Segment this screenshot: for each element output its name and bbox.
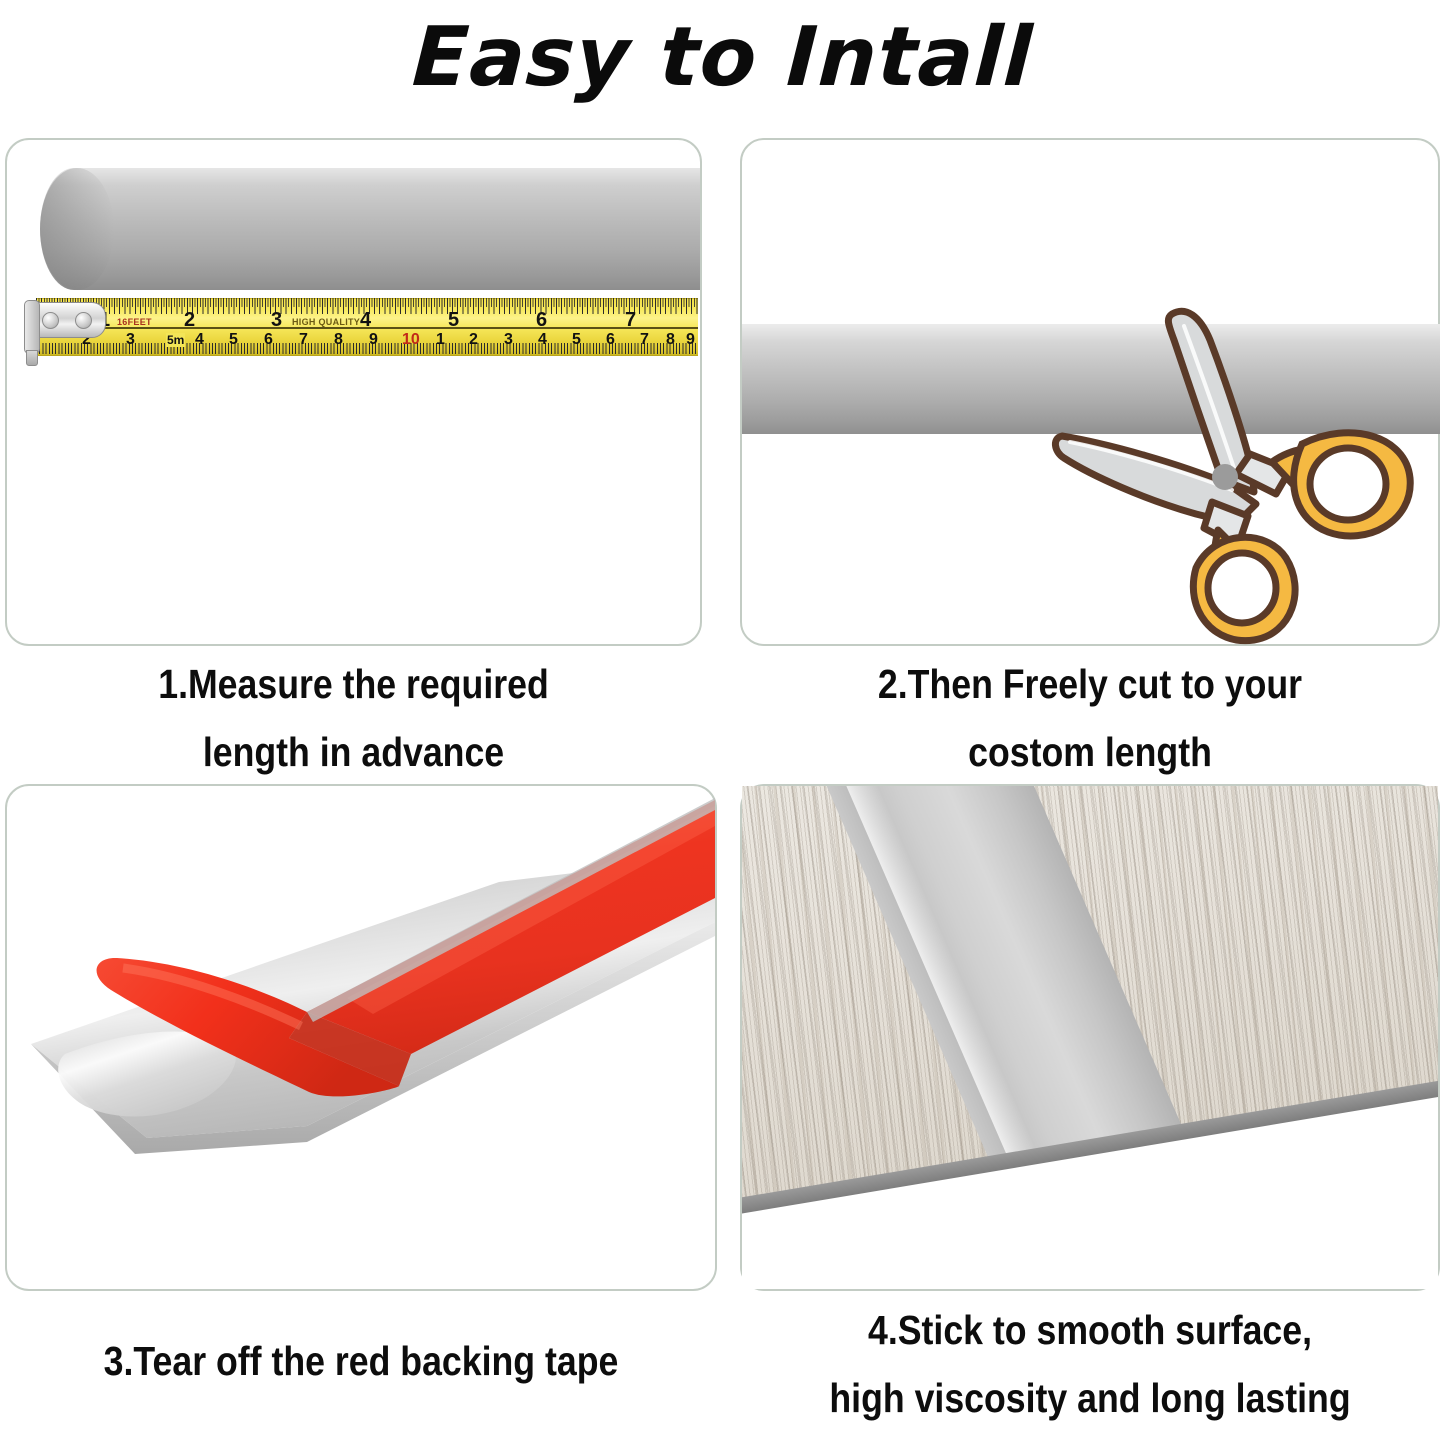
tape-inch-label: 4 <box>360 310 371 330</box>
tape-cm-label: 5 <box>229 332 238 348</box>
tape-end-hook <box>30 302 106 338</box>
caption-line: 4.Stick to smooth surface, <box>781 1296 1399 1364</box>
tape-inch-label: 7 <box>625 310 636 330</box>
pipe-illustration <box>40 168 700 290</box>
tape-inch-label: 6 <box>536 310 547 330</box>
caption-line: 2.Then Freely cut to your <box>786 650 1395 718</box>
backing-tape-illustration <box>7 786 715 1289</box>
tape-cm-label-highlight: 10 <box>402 332 420 348</box>
tape-cm-label: 6 <box>606 332 615 348</box>
scissors-handle-lower <box>1193 537 1295 640</box>
tape-brand-label: 16FEET <box>117 317 152 327</box>
caption-line: 3.Tear off the red backing tape <box>47 1327 675 1395</box>
page-title: Easy to Intall <box>0 2 1445 120</box>
scissors-pivot <box>1212 464 1238 490</box>
tape-cm-label: 8 <box>334 332 343 348</box>
tape-inch-label: 3 <box>271 310 282 330</box>
tape-cm-label: 9 <box>686 332 695 348</box>
tape-cm-label: 4 <box>538 332 547 348</box>
tape-ticks-metric <box>36 343 698 354</box>
tape-cm-label: 4 <box>195 332 204 348</box>
tape-cm-label: 2 <box>469 332 478 348</box>
tape-metric-marker: 5m <box>166 333 185 347</box>
tape-cm-label: 3 <box>126 332 135 348</box>
tape-cm-label: 5 <box>572 332 581 348</box>
tape-cm-label: 1 <box>436 332 445 348</box>
scissors-handle-upper <box>1294 433 1411 536</box>
step-2-caption: 2.Then Freely cut to your costom length <box>786 650 1395 786</box>
tape-cm-label: 7 <box>640 332 649 348</box>
tape-hook-rivet <box>42 312 59 329</box>
tape-quality-label: HIGH QUALITY <box>292 317 360 327</box>
tape-hook-tab <box>24 300 40 354</box>
step-4-caption: 4.Stick to smooth surface, high viscosit… <box>781 1296 1399 1432</box>
caption-line: 1.Measure the required <box>50 650 656 718</box>
tape-ticks-inch-minor <box>36 298 698 307</box>
tape-inch-label: 5 <box>448 310 459 330</box>
tape-cm-label: 7 <box>299 332 308 348</box>
tape-cm-label: 8 <box>666 332 675 348</box>
scissors-icon <box>1000 278 1430 646</box>
tape-cm-label: 6 <box>264 332 273 348</box>
tape-hook-rivet <box>75 312 92 329</box>
caption-line: high viscosity and long lasting <box>781 1364 1399 1432</box>
installed-strip-illustration <box>742 786 1438 1289</box>
step-1-caption: 1.Measure the required length in advance <box>50 650 656 786</box>
tape-cm-label: 3 <box>504 332 513 348</box>
caption-line: costom length <box>786 718 1395 786</box>
tape-hook-foot <box>26 350 38 366</box>
step-3-caption: 3.Tear off the red backing tape <box>47 1327 675 1395</box>
caption-line: length in advance <box>50 718 656 786</box>
tape-inch-label: 2 <box>184 310 195 330</box>
tape-cm-label: 9 <box>369 332 378 348</box>
tape-measure-illustration: 1 2 3 4 5 6 7 16FEET HIGH QUALITY 5m 2 3… <box>14 298 698 354</box>
